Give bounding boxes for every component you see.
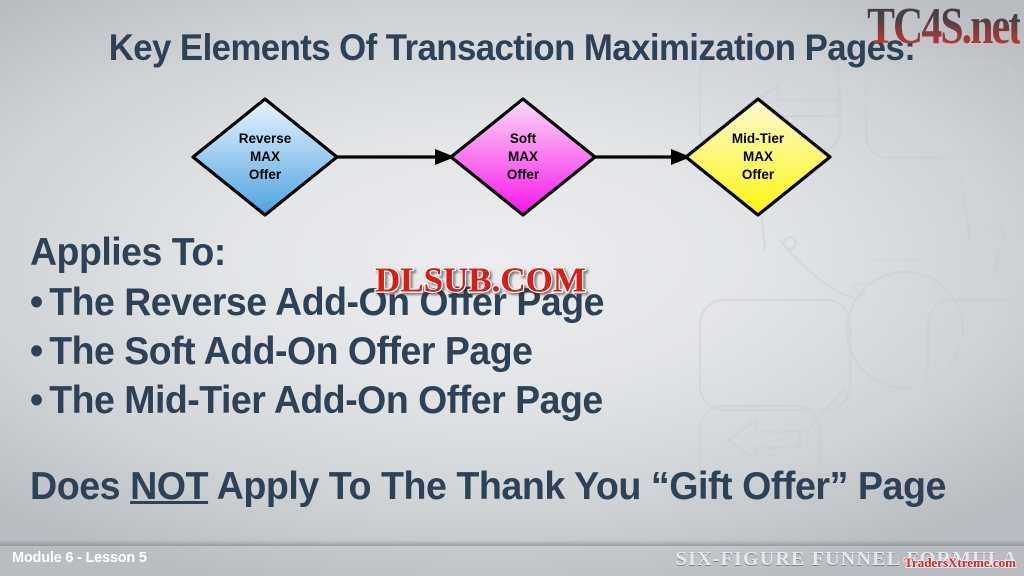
bullet-icon: • [30, 278, 49, 327]
bullet-icon: • [30, 376, 49, 425]
slide-canvas: Key Elements Of Transaction Maximization… [0, 0, 1024, 576]
flow-node-reverse-max-offer[interactable]: Reverse MAX Offer [190, 96, 340, 218]
page-title: Key Elements Of Transaction Maximization… [31, 27, 994, 69]
list-item: •The Mid-Tier Add-On Offer Page [30, 376, 604, 425]
flow-diagram: Reverse MAX Offer Soft MAX [0, 96, 1024, 222]
footer-bar: Module 6 - Lesson 5 SIX-FIGURE FUNNEL FO… [0, 546, 1024, 576]
statement-before: Does [30, 465, 130, 508]
does-not-apply-statement: Does NOT Apply To The Thank You “Gift Of… [30, 465, 946, 509]
tradersxtreme-watermark: TradersXtreme.com [904, 555, 1016, 571]
bullet-icon: • [30, 327, 49, 376]
lesson-label: Module 6 - Lesson 5 [12, 550, 147, 566]
list-item-label: The Mid-Tier Add-On Offer Page [49, 379, 602, 422]
flow-node-soft-max-offer[interactable]: Soft MAX Offer [448, 96, 598, 218]
body-copy: Applies To: •The Reverse Add-On Offer Pa… [30, 228, 604, 425]
tc4s-watermark: TC4S.net [867, 0, 1020, 56]
flow-arrow-2 [595, 148, 691, 166]
list-item: •The Soft Add-On Offer Page [30, 327, 604, 376]
flow-node-mid-tier-max-offer[interactable]: Mid-Tier MAX Offer [683, 96, 833, 218]
dlsub-watermark: DLSUB.COM [375, 262, 586, 301]
statement-emphasis: NOT [130, 465, 208, 508]
statement-after: Apply To The Thank You “Gift Offer” Page [208, 465, 946, 508]
flow-arrow-1 [337, 148, 455, 166]
list-item-label: The Soft Add-On Offer Page [49, 330, 532, 373]
